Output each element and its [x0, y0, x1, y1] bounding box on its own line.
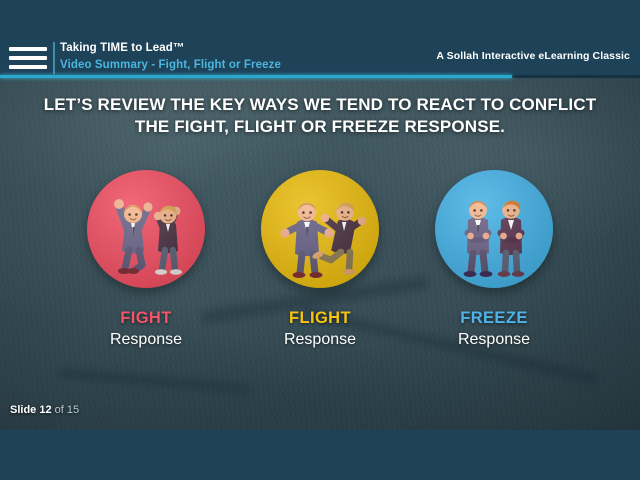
two-people-fists-raised-icon [87, 170, 205, 288]
course-title: Taking TIME to Lead™ [60, 41, 281, 56]
headline-line-1: LET’S REVIEW THE KEY WAYS WE TEND TO REA… [0, 94, 640, 116]
hamburger-menu-icon[interactable] [9, 45, 47, 71]
slide-stage: LET’S REVIEW THE KEY WAYS WE TEND TO REA… [0, 78, 640, 430]
header-divider [53, 42, 55, 74]
flight-label: FLIGHT [284, 310, 356, 327]
two-people-arms-crossed-icon [435, 170, 553, 288]
brand-tagline: A Sollah Interactive eLearning Classic [436, 50, 630, 62]
header-title-block: Taking TIME to Lead™ Video Summary - Fig… [60, 41, 281, 73]
freeze-disc-wrap [435, 170, 553, 288]
headline-line-2: THE FIGHT, FLIGHT OR FREEZE RESPONSE. [0, 116, 640, 138]
flight-disc [261, 170, 379, 288]
flight-sublabel: Response [284, 332, 356, 348]
fight-sublabel: Response [110, 332, 182, 348]
response-card-flight[interactable]: FLIGHT Response [233, 170, 407, 360]
response-card-row: FIGHT Response [0, 170, 640, 360]
progress-bar-fill [0, 75, 512, 78]
freeze-label: FREEZE [458, 310, 530, 327]
slide-counter-current: Slide 12 [10, 404, 52, 416]
hamburger-bar-2 [9, 56, 47, 60]
slide-headline: LET’S REVIEW THE KEY WAYS WE TEND TO REA… [0, 94, 640, 138]
player-header: Taking TIME to Lead™ Video Summary - Fig… [0, 0, 640, 78]
fight-labels: FIGHT Response [110, 310, 182, 348]
freeze-disc [435, 170, 553, 288]
freeze-labels: FREEZE Response [458, 310, 530, 348]
fight-disc-wrap [87, 170, 205, 288]
response-card-fight[interactable]: FIGHT Response [59, 170, 233, 360]
progress-bar-track[interactable] [0, 75, 640, 78]
response-card-freeze[interactable]: FREEZE Response [407, 170, 581, 360]
slide-counter: Slide 12 of 15 [10, 404, 79, 416]
slide-counter-total: of 15 [55, 404, 79, 416]
flight-disc-wrap [261, 170, 379, 288]
person-shrugging-and-person-running-icon [261, 170, 379, 288]
hamburger-bar-3 [9, 65, 47, 69]
fight-disc [87, 170, 205, 288]
freeze-sublabel: Response [458, 332, 530, 348]
player-footer [0, 430, 640, 480]
flight-labels: FLIGHT Response [284, 310, 356, 348]
elearning-player: Taking TIME to Lead™ Video Summary - Fig… [0, 0, 640, 480]
hamburger-bar-1 [9, 47, 47, 51]
fight-label: FIGHT [110, 310, 182, 327]
lesson-title[interactable]: Video Summary - Fight, Flight or Freeze [60, 57, 281, 73]
